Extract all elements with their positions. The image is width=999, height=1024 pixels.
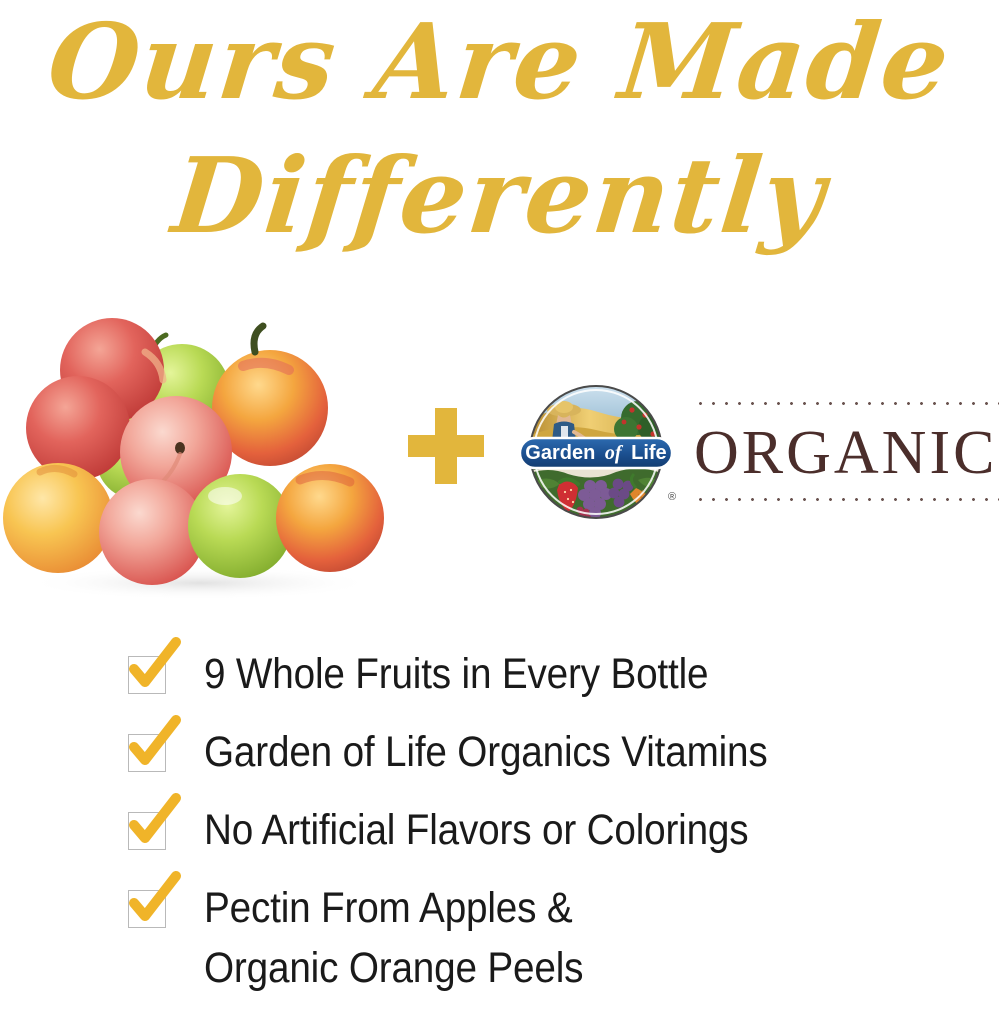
fruit-plus-logo-band: Garden of Life ® ORGANICS	[0, 300, 999, 600]
checklist-label-4-line1: Pectin From Apples &	[204, 884, 573, 932]
feature-checklist: 9 Whole Fruits in Every Bottle Garden of…	[128, 648, 988, 1022]
checklist-label-2: Garden of Life Organics Vitamins	[204, 722, 915, 782]
checkbox-1[interactable]	[128, 656, 166, 694]
checklist-label-3: No Artificial Flavors or Colorings	[204, 800, 915, 860]
fruit-pile-photo	[0, 300, 410, 600]
checklist-label-4-line2: Organic Orange Peels	[204, 938, 915, 998]
dotted-rule-top	[694, 402, 999, 405]
garden-of-life-logo: Garden of Life ®	[518, 382, 690, 522]
logo-word-life: Life	[631, 442, 667, 464]
dotted-rule-bottom	[694, 498, 999, 501]
list-item: Garden of Life Organics Vitamins	[128, 726, 988, 804]
organics-wordmark: ORGANICS	[694, 400, 999, 508]
headline-line-2: Differently	[0, 140, 999, 252]
product-marketing-image: Ours Are Made Differently	[0, 0, 999, 1024]
list-item: No Artificial Flavors or Colorings	[128, 804, 988, 882]
headline-line-1: Ours Are Made	[0, 6, 999, 118]
logo-word-garden: Garden	[525, 442, 595, 464]
list-item: 9 Whole Fruits in Every Bottle	[128, 648, 988, 726]
checklist-label-4: Pectin From Apples & Organic Orange Peel…	[204, 878, 915, 998]
organics-text: ORGANICS	[694, 414, 999, 492]
checklist-label-1: 9 Whole Fruits in Every Bottle	[204, 644, 915, 704]
checkbox-3[interactable]	[128, 812, 166, 850]
plus-icon	[408, 408, 484, 484]
logo-word-of: of	[605, 442, 624, 464]
list-item: Pectin From Apples & Organic Orange Peel…	[128, 882, 988, 1022]
logo-brand-text: Garden of Life	[525, 442, 666, 464]
checkbox-4[interactable]	[128, 890, 166, 928]
checkbox-2[interactable]	[128, 734, 166, 772]
registered-trademark-icon: ®	[668, 491, 676, 503]
